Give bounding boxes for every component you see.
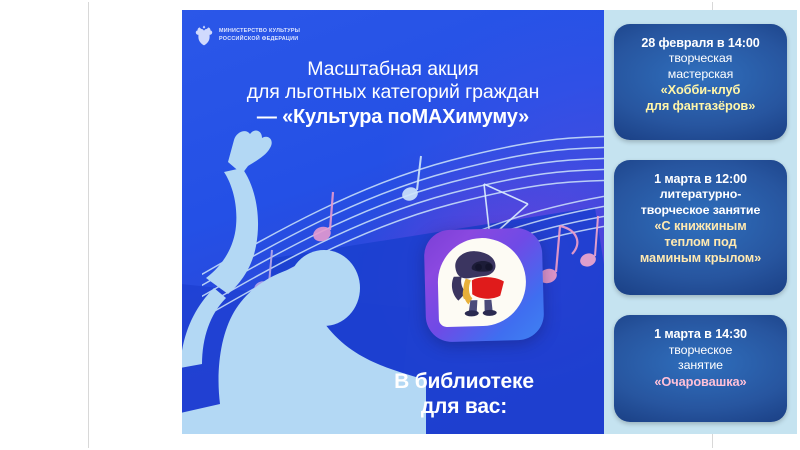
image-viewer: Министерство культуры Российской Федерац… bbox=[0, 0, 800, 450]
event-1-title-line-2: для фантазёров» bbox=[621, 98, 780, 114]
poster-headline: Масштабная акция для льготных категорий … bbox=[182, 58, 604, 129]
tagline-line-2: для вас: bbox=[332, 395, 596, 420]
image-frame: Министерство культуры Российской Федерац… bbox=[88, 2, 713, 448]
coat-of-arms-icon bbox=[194, 24, 214, 47]
event-3-kind-line-1: творческое bbox=[621, 343, 780, 359]
event-1-kind-line-1: творческая bbox=[621, 51, 780, 67]
ministry-logo: Министерство культуры Российской Федерац… bbox=[194, 24, 300, 47]
ministry-logo-text: Министерство культуры Российской Федерац… bbox=[219, 28, 300, 44]
event-2-title-line-2: теплом под bbox=[621, 234, 780, 250]
mascot-icon bbox=[437, 237, 527, 327]
event-1-title-line-1: «Хобби-клуб bbox=[621, 82, 780, 98]
poster-tagline: В библиотеке для вас: bbox=[332, 370, 596, 420]
headline-line-1: Масштабная акция bbox=[194, 58, 592, 81]
event-card-1[interactable]: 28 февраля в 14:00 творческая мастерская… bbox=[614, 24, 787, 140]
event-1-kind-line-2: мастерская bbox=[621, 67, 780, 83]
ministry-logo-line1: Министерство культуры bbox=[219, 28, 300, 36]
event-2-title-line-3: маминым крылом» bbox=[621, 250, 780, 266]
tagline-line-1: В библиотеке bbox=[332, 370, 596, 395]
event-card-2[interactable]: 1 марта в 12:00 литературно- творческое … bbox=[614, 160, 787, 296]
event-2-title-line-1: «С книжкиным bbox=[621, 218, 780, 234]
ministry-logo-line2: Российской Федерации bbox=[219, 36, 300, 44]
event-3-title-line-1: «Очаровашка» bbox=[621, 374, 780, 390]
event-2-kind-line-2: творческое занятие bbox=[621, 203, 780, 219]
event-poster: Министерство культуры Российской Федерац… bbox=[182, 10, 797, 434]
event-1-datetime: 28 февраля в 14:00 bbox=[621, 35, 780, 51]
poster-artwork-panel: Министерство культуры Российской Федерац… bbox=[182, 10, 604, 434]
events-panel: 28 февраля в 14:00 творческая мастерская… bbox=[604, 10, 797, 434]
event-3-datetime: 1 марта в 14:30 bbox=[621, 326, 780, 342]
app-badge bbox=[424, 227, 545, 342]
event-3-kind-line-2: занятие bbox=[621, 358, 780, 374]
event-card-3[interactable]: 1 марта в 14:30 творческое занятие «Очар… bbox=[614, 315, 787, 422]
headline-line-3: — «Культура поМАХимуму» bbox=[194, 105, 592, 129]
event-2-kind-line-1: литературно- bbox=[621, 187, 780, 203]
headline-line-2: для льготных категорий граждан bbox=[194, 81, 592, 104]
event-2-datetime: 1 марта в 12:00 bbox=[621, 171, 780, 187]
